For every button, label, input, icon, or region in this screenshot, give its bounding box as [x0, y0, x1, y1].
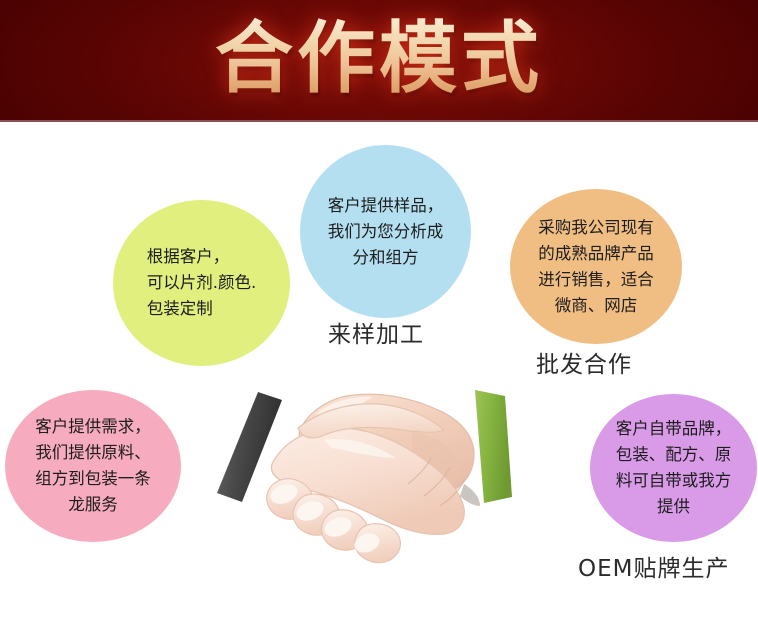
bubble-text: 客户提供需求， 我们提供原料、 组方到包装一条 龙服务 [27, 414, 159, 518]
caption-sample-processing: 来样加工 [328, 320, 424, 350]
bubble-custom-manufacturing[interactable]: 根据客户， 可以片剂.颜色. 包装定制 [113, 200, 290, 366]
bubble-text: 采购我公司现有 的成熟品牌产品 进行销售，适合 微商、网店 [530, 215, 662, 319]
caption-oem-production: OEM贴牌生产 [578, 554, 729, 584]
page-title: 合作模式 [0, 9, 758, 109]
bubble-wholesale-cooperation[interactable]: 采购我公司现有 的成熟品牌产品 进行销售，适合 微商、网店 [510, 189, 682, 344]
bubble-text: 客户提供样品， 我们为您分析成 分和组方 [320, 193, 452, 271]
bubble-text: 客户自带品牌， 包装、配方、原 料可自带或我方 提供 [608, 416, 740, 520]
cooperation-model-diagram: 根据客户， 可以片剂.颜色. 包装定制 客户提供样品， 我们为您分析成 分和组方… [0, 122, 758, 625]
bubble-oem-production[interactable]: 客户自带品牌， 包装、配方、原 料可自带或我方 提供 [590, 394, 757, 542]
handshake-illustration [212, 372, 542, 602]
header-banner: 合作模式 [0, 0, 758, 122]
caption-wholesale-cooperation: 批发合作 [536, 350, 632, 380]
bubble-sample-processing[interactable]: 客户提供样品， 我们为您分析成 分和组方 [300, 145, 471, 318]
bubble-text: 根据客户， 可以片剂.颜色. 包装定制 [139, 244, 265, 322]
bubble-one-stop-service[interactable]: 客户提供需求， 我们提供原料、 组方到包装一条 龙服务 [5, 390, 181, 542]
right-sleeve [475, 390, 512, 503]
